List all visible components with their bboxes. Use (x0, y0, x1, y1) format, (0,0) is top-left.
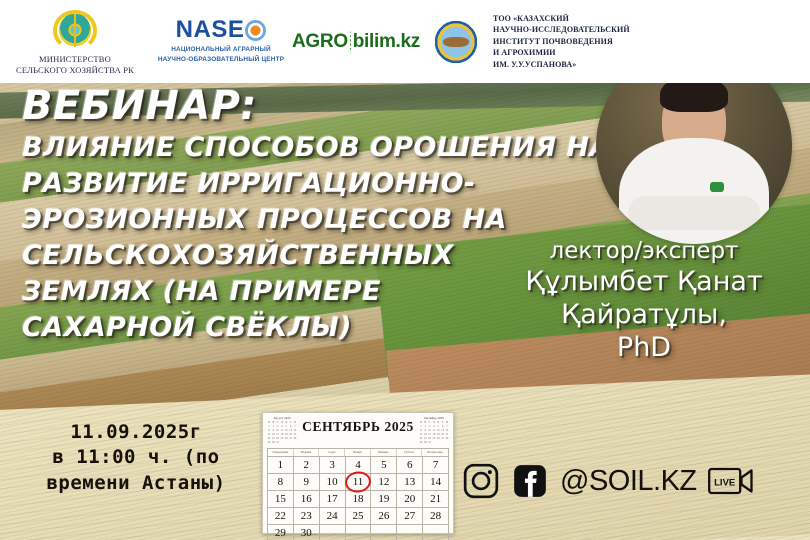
title-line-5: ЗЕМЛЯХ (НА ПРИМЕРЕ (22, 278, 542, 306)
calendar-day: 18 (346, 491, 372, 508)
kazakhstan-state-emblem-icon (52, 7, 98, 53)
institute-line-1: ТОО «КАЗАХСКИЙ (493, 13, 630, 24)
title-line-6: САХАРНОЙ СВЁКЛЫ) (22, 314, 542, 342)
weekday-fri: Пятница (371, 449, 397, 456)
calendar-day: 10 (320, 474, 346, 491)
calendar-day: 30 (294, 525, 320, 540)
portrait-crossed-arms (628, 196, 760, 230)
mini-calendar-prev: Август 2025 ПВСЧПСВ 1234567 891011121314… (267, 416, 297, 445)
nasec-logo: NASE НАЦИОНАЛЬНЫЙ АГРАРНЫЙ НАУЧНО-ОБРАЗО… (150, 18, 292, 64)
nasec-sub-line-2: НАУЧНО-ОБРАЗОВАТЕЛЬНЫЙ ЦЕНТР (150, 55, 292, 65)
calendar-day: 7 (423, 457, 449, 474)
facebook-icon[interactable] (511, 462, 549, 500)
calendar-day: 12 (371, 474, 397, 491)
calendar-month-title: СЕНТЯБРЬ 2025 (297, 416, 419, 435)
ministry-label: МИНИСТЕРСТВО СЕЛЬСКОГО ХОЗЯЙСТВА РК (16, 54, 134, 75)
title-line-4: СЕЛЬСКОХОЗЯЙСТВЕННЫХ (22, 242, 542, 270)
institute-logo: ТОО «КАЗАХСКИЙ НАУЧНО-ИССЛЕДОВАТЕЛЬСКИЙ … (420, 12, 630, 72)
nasec-wordmark: NASE (176, 18, 267, 42)
calendar-header: Август 2025 ПВСЧПСВ 1234567 891011121314… (267, 416, 449, 445)
calendar-day-marked: 11 (346, 474, 372, 491)
calendar-day: 24 (320, 508, 346, 525)
mini-next-grid: ПВСЧПСВ 12345 6789101112 13141516171819 … (419, 421, 449, 446)
weekday-sat: Суббота (397, 449, 423, 456)
ministry-logo: МИНИСТЕРСТВО СЕЛЬСКОГО ХОЗЯЙСТВА РК (0, 7, 150, 75)
bilim-text: bilim.kz (353, 31, 420, 53)
nasec-sub-line-1: НАЦИОНАЛЬНЫЙ АГРАРНЫЙ (150, 45, 292, 55)
calendar-day: 19 (371, 491, 397, 508)
ministry-line-2: СЕЛЬСКОГО ХОЗЯЙСТВА РК (16, 65, 134, 76)
title-headline: ВЕБИНАР: (22, 86, 542, 128)
agrobilim-logo: AGRO bilim.kz (292, 31, 420, 53)
weekday-thu: Четверг (345, 449, 371, 456)
institute-line-5: ИМ. У.У.УСПАНОВА» (493, 59, 630, 70)
lecturer-block: лектор/эксперт Құлымбет Қанат Қайратұлы,… (494, 238, 794, 365)
calendar-day (397, 525, 423, 540)
event-date: 11.09.2025г (20, 420, 252, 445)
calendar-day: 8 (268, 474, 294, 491)
institute-emblem-icon (426, 12, 486, 72)
nasec-letters: NASE (176, 18, 245, 42)
calendar-day: 17 (320, 491, 346, 508)
calendar-day: 13 (397, 474, 423, 491)
calendar-day: 21 (423, 491, 449, 508)
weekday-wed: Среда (319, 449, 345, 456)
calendar-day-grid: 1 2 3 4 5 6 7 8 9 10 11 12 13 14 15 16 1… (267, 456, 449, 540)
lecturer-degree: PhD (494, 331, 794, 365)
calendar-widget: Август 2025 ПВСЧПСВ 1234567 891011121314… (262, 412, 454, 534)
lecturer-name-line-1: Құлымбет Қанат (494, 266, 794, 299)
calendar-day: 20 (397, 491, 423, 508)
agro-text: AGRO (292, 31, 348, 53)
calendar-day (423, 525, 449, 540)
weekday-sun: Воскресенье (422, 449, 448, 456)
webinar-poster: МИНИСТЕРСТВО СЕЛЬСКОГО ХОЗЯЙСТВА РК NASE… (0, 0, 810, 540)
webinar-title: ВЕБИНАР: ВЛИЯНИЕ СПОСОБОВ ОРОШЕНИЯ НА РА… (22, 86, 542, 350)
instagram-icon[interactable] (462, 462, 500, 500)
calendar-day: 26 (371, 508, 397, 525)
mini-prev-grid: ПВСЧПСВ 1234567 891011121314 15161718192… (267, 421, 297, 446)
mini-calendar-next: Октябрь 2025 ПВСЧПСВ 12345 6789101112 13… (419, 416, 449, 445)
live-label: LIVE (714, 478, 735, 489)
calendar-day: 16 (294, 491, 320, 508)
live-video-icon[interactable]: LIVE (708, 464, 754, 498)
emblem-wings-icon (53, 10, 97, 51)
event-time-line-2: времени Астаны) (20, 471, 252, 496)
calendar-day: 5 (371, 457, 397, 474)
institute-line-3: ИНСТИТУТ ПОЧВОВЕДЕНИЯ (493, 36, 630, 47)
institute-line-4: И АГРОХИМИИ (493, 47, 630, 58)
title-line-1: ВЛИЯНИЕ СПОСОБОВ ОРОШЕНИЯ НА (22, 134, 542, 162)
wheat-stalk-icon (350, 31, 351, 53)
calendar-day: 22 (268, 508, 294, 525)
social-handle[interactable]: @SOIL.KZ (560, 465, 697, 498)
event-datetime: 11.09.2025г в 11:00 ч. (по времени Астан… (20, 420, 252, 496)
institute-line-2: НАУЧНО-ИССЛЕДОВАТЕЛЬСКИЙ (493, 24, 630, 35)
calendar-day: 2 (294, 457, 320, 474)
logo-header-band: МИНИСТЕРСТВО СЕЛЬСКОГО ХОЗЯЙСТВА РК NASE… (0, 0, 810, 83)
lecturer-name-line-2: Қайратұлы, (494, 299, 794, 332)
calendar-day: 9 (294, 474, 320, 491)
calendar-day: 15 (268, 491, 294, 508)
shirt-logo-icon (710, 182, 724, 192)
nasec-subtitle: НАЦИОНАЛЬНЫЙ АГРАРНЫЙ НАУЧНО-ОБРАЗОВАТЕЛ… (150, 45, 292, 64)
title-line-3: ЭРОЗИОННЫХ ПРОЦЕССОВ НА (22, 206, 542, 234)
calendar-day: 29 (268, 525, 294, 540)
weekday-tue: Вторник (294, 449, 320, 456)
ministry-line-1: МИНИСТЕРСТВО (16, 54, 134, 65)
calendar-day (320, 525, 346, 540)
title-line-2: РАЗВИТИЕ ИРРИГАЦИОННО- (22, 170, 542, 198)
nasec-circle-icon (245, 20, 266, 41)
calendar-day (371, 525, 397, 540)
calendar-day: 28 (423, 508, 449, 525)
event-time-line-1: в 11:00 ч. (по (20, 445, 252, 470)
calendar-day: 3 (320, 457, 346, 474)
calendar-day: 6 (397, 457, 423, 474)
calendar-day: 14 (423, 474, 449, 491)
weekday-mon: Понедельник (268, 449, 294, 456)
institute-label: ТОО «КАЗАХСКИЙ НАУЧНО-ИССЛЕДОВАТЕЛЬСКИЙ … (493, 13, 630, 70)
calendar-day: 27 (397, 508, 423, 525)
calendar-day: 23 (294, 508, 320, 525)
calendar-day: 1 (268, 457, 294, 474)
calendar-day: 25 (346, 508, 372, 525)
calendar-day (346, 525, 372, 540)
social-links-bar: @SOIL.KZ LIVE (462, 462, 754, 500)
calendar-weekday-row: Понедельник Вторник Среда Четверг Пятниц… (267, 448, 449, 456)
